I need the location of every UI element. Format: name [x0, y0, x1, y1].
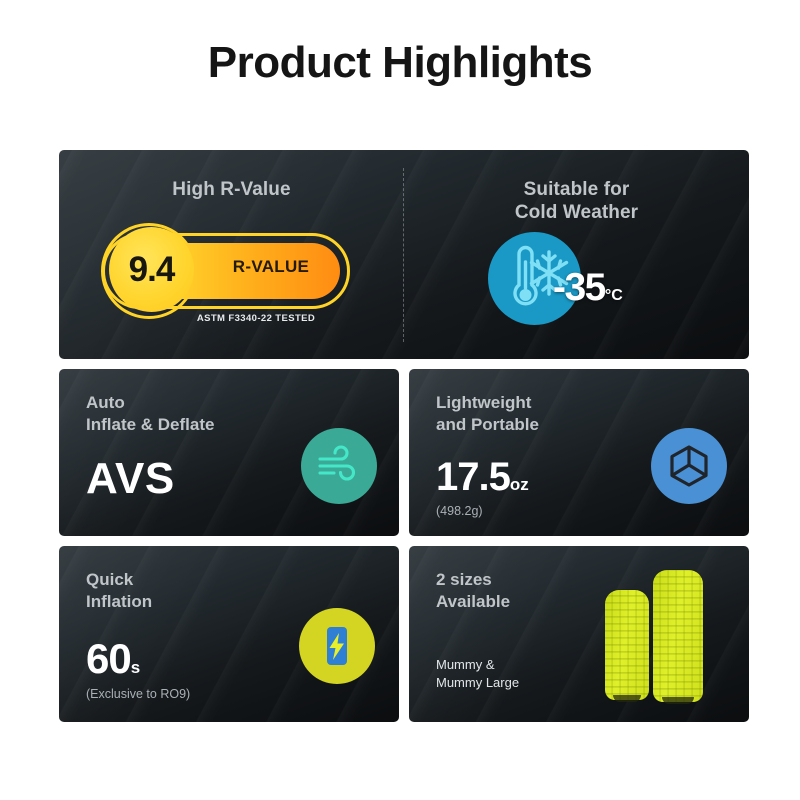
- cold-weather-heading: Suitable for Cold Weather: [404, 150, 749, 224]
- cold-weather-unit: °C: [605, 287, 623, 304]
- auto-inflate-stat: AVS: [86, 457, 175, 501]
- quick-inflation-sub: (Exclusive to RO9): [86, 687, 190, 701]
- lightweight-stat-unit: oz: [510, 475, 529, 494]
- sizes-sub-line1: Mummy &: [436, 656, 519, 674]
- auto-inflate-heading-line2: Inflate & Deflate: [86, 414, 214, 436]
- highlights-grid: High R-Value R-VALUE 9.4 ASTM F3340-22 T…: [59, 150, 749, 722]
- sizes-sub-line2: Mummy Large: [436, 674, 519, 692]
- r-value-score: 9.4: [129, 252, 175, 287]
- r-value-badge: R-VALUE 9.4 ASTM F3340-22 TESTED: [102, 233, 360, 328]
- panel-sizes: 2 sizes Available Mummy & Mummy Large: [409, 546, 749, 722]
- quick-inflation-heading-line2: Inflation: [86, 591, 152, 613]
- panel-lightweight: Lightweight and Portable 17.5oz (498.2g): [409, 369, 749, 536]
- panel-top-combined: High R-Value R-VALUE 9.4 ASTM F3340-22 T…: [59, 150, 749, 359]
- wind-icon: [314, 441, 364, 491]
- sizes-sub: Mummy & Mummy Large: [436, 656, 519, 691]
- quick-inflation-heading: Quick Inflation: [86, 569, 152, 613]
- product-highlights-page: Product Highlights High R-Value R-VALUE …: [0, 0, 800, 800]
- lightweight-heading-line1: Lightweight: [436, 392, 539, 414]
- cold-weather-temperature: -35°C: [553, 268, 623, 307]
- battery-bolt-icon: [313, 622, 361, 670]
- pad-mummy-large: [653, 570, 703, 702]
- lightweight-stat-value: 17.5: [436, 455, 510, 499]
- quick-inflation-icon-circle: [299, 608, 375, 684]
- sizes-heading: 2 sizes Available: [436, 569, 510, 613]
- lightweight-stat: 17.5oz: [436, 457, 529, 497]
- r-value-score-circle: 9.4: [109, 227, 194, 312]
- cube-icon: [666, 443, 712, 489]
- quick-inflation-stat-value: 60: [86, 635, 131, 682]
- sizes-heading-line1: 2 sizes: [436, 569, 510, 591]
- auto-inflate-icon-circle: [301, 428, 377, 504]
- quick-inflation-stat: 60s: [86, 638, 140, 680]
- pad-mummy: [605, 590, 649, 700]
- quick-inflation-heading-line1: Quick: [86, 569, 152, 591]
- cold-weather-badge: -35°C: [488, 232, 678, 332]
- panel-divider: [403, 168, 404, 342]
- auto-inflate-heading: Auto Inflate & Deflate: [86, 392, 214, 436]
- r-value-certification: ASTM F3340-22 TESTED: [154, 313, 358, 324]
- cold-weather-temperature-value: -35: [553, 266, 605, 309]
- sleeping-pads-icon: [599, 564, 731, 709]
- quick-inflation-stat-unit: s: [131, 658, 140, 677]
- page-title: Product Highlights: [0, 38, 800, 88]
- auto-inflate-heading-line1: Auto: [86, 392, 214, 414]
- panel-cold-weather: Suitable for Cold Weather: [404, 150, 749, 359]
- lightweight-sub: (498.2g): [436, 504, 483, 518]
- lightweight-icon-circle: [651, 428, 727, 504]
- panel-quick-inflation: Quick Inflation 60s (Exclusive to RO9): [59, 546, 399, 722]
- cold-weather-heading-line2: Cold Weather: [404, 201, 749, 224]
- panel-r-value: High R-Value R-VALUE 9.4 ASTM F3340-22 T…: [59, 150, 404, 359]
- sizes-heading-line2: Available: [436, 591, 510, 613]
- r-value-pill-label: R-VALUE: [206, 257, 336, 277]
- panel-auto-inflate: Auto Inflate & Deflate AVS: [59, 369, 399, 536]
- lightweight-heading: Lightweight and Portable: [436, 392, 539, 436]
- r-value-heading: High R-Value: [59, 150, 404, 201]
- cold-weather-heading-line1: Suitable for: [404, 178, 749, 201]
- lightweight-heading-line2: and Portable: [436, 414, 539, 436]
